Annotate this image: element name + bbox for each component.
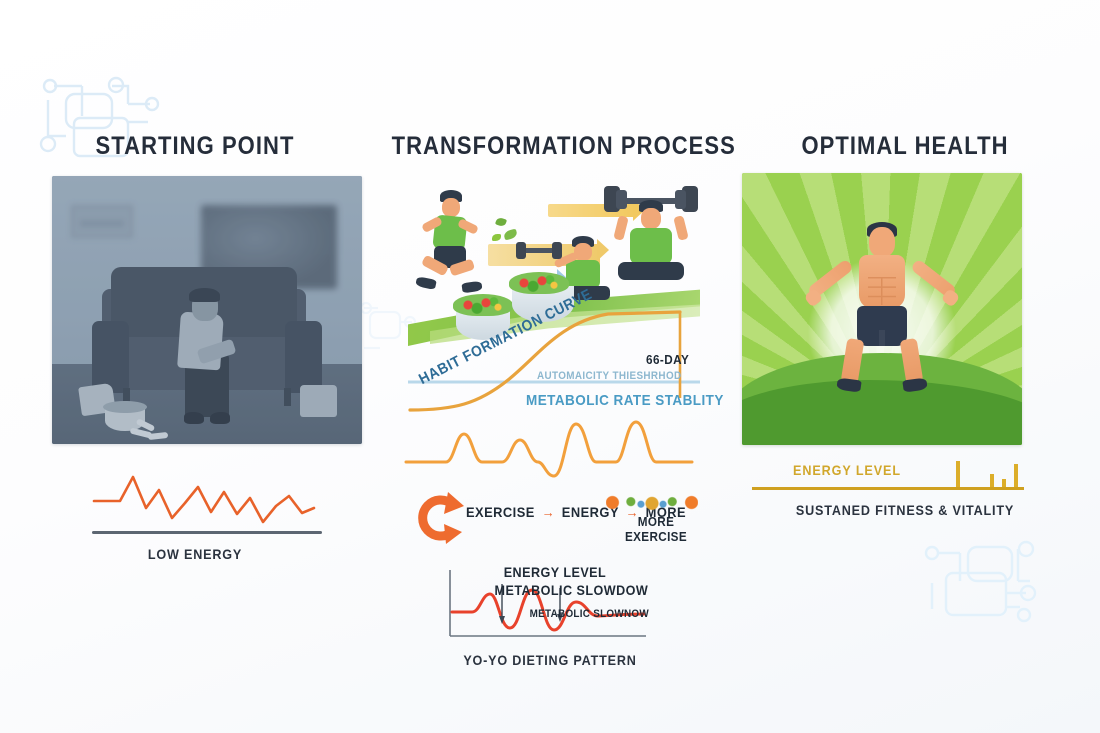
energy-wave-line [404,418,696,480]
low-energy-chart [92,472,322,534]
dumbbell-plate [552,242,562,259]
yoyo-dieting-chart: ENERGY LEVEL METABOLIC SLOWDOW METABOLIC… [448,566,648,644]
energy-bar [1002,479,1006,487]
lifter-shirt [630,228,672,264]
automaticity-threshold-label: AUTOMAICITY THIESHRHOD [537,370,682,382]
panel-title-starting-point: STARTING POINT [23,132,366,161]
exercise-energy-cycle: EXERCISE → ENERGY → MORE MORE EXERCISE [408,486,700,548]
low-energy-caption: LOW ENERGY [20,546,371,562]
energy-bar [956,461,960,487]
low-energy-line [92,472,322,532]
hero-leg-left [841,338,865,384]
dumbbell-plate [516,242,526,259]
runner-shoe-front [461,281,482,294]
sustained-energy-chart: ENERGY LEVEL [752,460,1024,490]
runner-head [442,198,460,217]
hero-shoe-right [902,377,927,392]
flying-greens [503,229,518,241]
chart-axis [92,531,322,534]
panel-starting-point: STARTING POINT [0,0,390,733]
hero-head [869,227,895,257]
sitter-shirt [566,260,600,288]
hero-shoe-left [836,377,861,392]
energy-wave-chart [404,418,696,480]
hero-leg-right [900,338,924,384]
hero-abs [868,277,896,305]
metabolic-rate-stability-label: METABOLIC RATE STABLITY [526,392,724,409]
lifter-head [641,208,661,229]
energy-level-label: ENERGY LEVEL [762,462,933,478]
habit-formation-chart: HABIT FORMATION CURVE 66-DAY AUTOMAICITY… [408,300,700,418]
yoyo-metabolic-slowdown-label: METABOLIC SLOWDOW [495,582,649,598]
lifter-arm-right [673,215,689,241]
infographic-canvas: STARTING POINT [0,0,1100,733]
hero-shorts [857,306,907,346]
lifter-arm-left [613,215,629,241]
optimal-health-caption: SUSTANED FITNESS & VITALITY [730,502,1081,518]
yoyo-dieting-caption: YO-YO DIETING PATTERN [406,652,694,668]
cycle-step-1: EXERCISE [466,504,535,520]
vegetable-strip-decoration [606,494,698,511]
lifter-legs-crossed [618,262,684,280]
cycle-arrows-icon [408,488,464,546]
energy-bar [990,474,994,487]
more-exercise-label: MORE EXERCISE [615,514,698,544]
runner-figure [416,190,488,298]
cycle-arrow-icon: → [539,504,558,520]
energy-bar [1014,464,1018,487]
barbell-plate-left-inner [616,190,627,209]
starting-point-illustration [52,176,362,444]
flying-greens [495,217,507,228]
runner-shoe-back [415,276,437,290]
panel-title-transformation-process: TRANSFORMATION PROCESS [392,132,709,161]
triumphant-figure [822,221,942,391]
desaturation-overlay [52,176,362,444]
panel-title-optimal-health: OPTIMAL HEALTH [733,132,1076,161]
yoyo-energy-level-label: ENERGY LEVEL [504,564,607,580]
gold-baseline [752,487,1024,490]
66-day-label: 66-DAY [646,352,689,367]
optimal-health-illustration [742,173,1022,445]
yoyo-metabolic-slowdown-label-2: METABOLIC SLOWNOW [530,608,649,620]
barbell-lifter-figure [608,190,694,300]
flying-greens [492,234,501,241]
barbell-plate-right-inner [675,190,686,209]
